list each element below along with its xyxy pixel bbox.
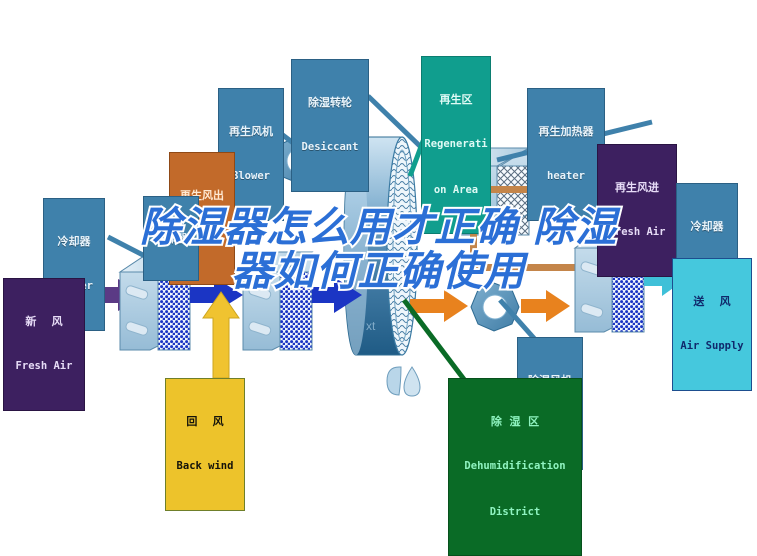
label-regen-area-en: Regenerati — [424, 139, 488, 150]
label-cooler-mid-cn: 冷却器 — [146, 233, 196, 245]
label-cooler-right-cn: 冷却器 — [679, 221, 735, 233]
label-dehumidification-district[interactable]: 除 湿 区 Dehumidification District — [448, 378, 582, 556]
label-back-wind[interactable]: 回 风 Back wind — [165, 378, 245, 511]
label-back-wind-en: Back wind — [168, 461, 242, 472]
diagram-canvas: xt — [0, 0, 757, 488]
label-dehum-district-en: Dehumidification — [451, 461, 579, 472]
label-regeneration-fresh-air[interactable]: 再生风进 Fresh Air — [597, 144, 677, 277]
svg-text:xt: xt — [366, 319, 376, 333]
label-cooler-mid[interactable]: 冷却器 — [143, 196, 199, 281]
label-fresh-air-cn: 新 风 — [6, 316, 82, 328]
label-heater-en: heater — [530, 171, 602, 182]
label-heater-cn: 再生加热器 — [530, 126, 602, 138]
label-regeneration-area[interactable]: 再生区 Regenerati on Area — [421, 56, 491, 234]
label-fresh-air[interactable]: 新 风 Fresh Air — [3, 278, 85, 411]
label-air-supply-en: Air Supply — [675, 341, 749, 352]
label-regen-area-cn: 再生区 — [424, 94, 488, 106]
label-cooler-left-cn: 冷却器 — [46, 236, 102, 248]
label-regeneration-heater[interactable]: 再生加热器 heater — [527, 88, 605, 221]
label-regen-fresh-en: Fresh Air — [600, 227, 674, 238]
dehumidified-air-arrow-2 — [521, 290, 570, 322]
label-desiccant[interactable]: 除湿转轮 Desiccant — [291, 59, 369, 192]
label-desiccant-cn: 除湿转轮 — [294, 97, 366, 109]
label-back-wind-cn: 回 风 — [168, 416, 242, 428]
label-regen-blower-cn: 再生风机 — [221, 126, 281, 138]
label-regen-fresh-cn: 再生风进 — [600, 182, 674, 194]
label-dehum-district-en2: District — [451, 507, 579, 518]
back-wind-arrow — [203, 292, 239, 378]
label-fresh-air-en: Fresh Air — [6, 361, 82, 372]
condensate-drain-icon — [387, 367, 420, 396]
label-air-supply[interactable]: 送 风 Air Supply — [672, 258, 752, 391]
label-desiccant-en: Desiccant — [294, 142, 366, 153]
label-dehum-district-cn: 除 湿 区 — [451, 416, 579, 428]
label-regen-area-en2: on Area — [424, 185, 488, 196]
label-air-supply-cn: 送 风 — [675, 296, 749, 308]
cooler-box-mid — [243, 252, 312, 350]
dehumidification-blower-shape — [471, 283, 519, 331]
